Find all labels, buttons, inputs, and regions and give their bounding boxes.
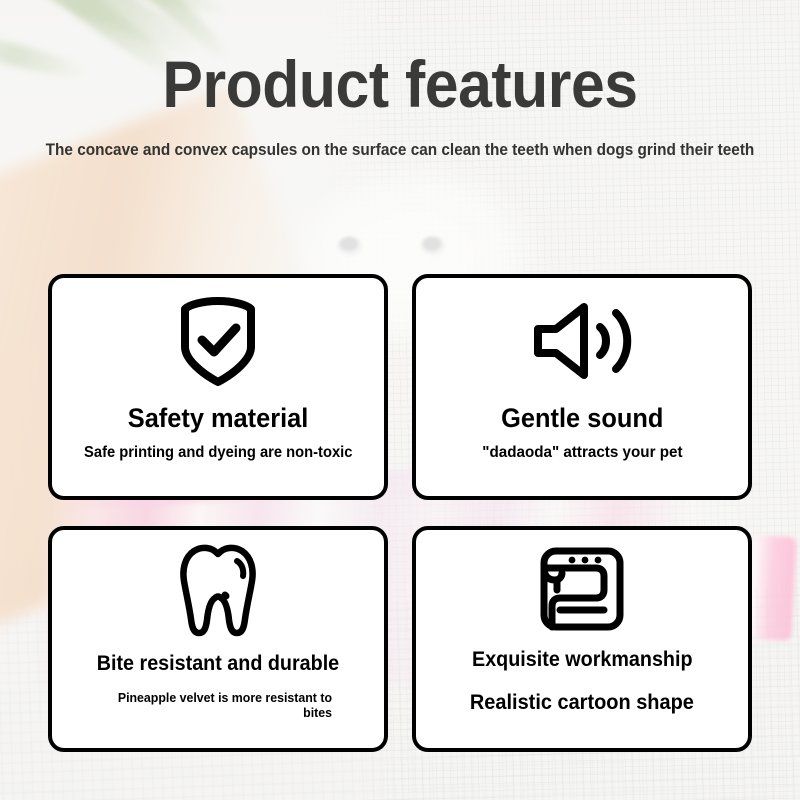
page-subtitle: The concave and convex capsules on the s… xyxy=(28,141,772,160)
feature-card-gentle-sound: Gentle sound "dadaoda" attracts your pet xyxy=(412,274,752,500)
feature-card-title: Exquisite workmanship xyxy=(472,648,692,671)
feature-card-title: Gentle sound xyxy=(501,404,663,434)
header: Product features The concave and convex … xyxy=(0,50,800,160)
sewing-machine-icon xyxy=(416,530,748,648)
speaker-sound-icon xyxy=(416,278,748,404)
tooth-icon xyxy=(52,530,384,652)
feature-card-subtitle: Pineapple velvet is more resistant to bi… xyxy=(104,691,332,721)
feature-card-subtitle: "dadaoda" attracts your pet xyxy=(482,444,682,462)
product-features-infographic: Product features The concave and convex … xyxy=(0,0,800,800)
shield-check-icon xyxy=(52,278,384,404)
feature-card-safety-material: Safety material Safe printing and dyeing… xyxy=(48,274,388,500)
feature-card-title: Bite resistant and durable xyxy=(97,652,339,675)
feature-card-subtitle: Safe printing and dyeing are non-toxic xyxy=(84,444,352,462)
feature-card-subtitle: Realistic cartoon shape xyxy=(470,691,694,715)
feature-card-workmanship: Exquisite workmanship Realistic cartoon … xyxy=(412,526,752,752)
feature-card-title: Safety material xyxy=(128,404,309,434)
page-title: Product features xyxy=(32,50,768,119)
feature-card-bite-resistant: Bite resistant and durable Pineapple vel… xyxy=(48,526,388,752)
feature-card-grid: Safety material Safe printing and dyeing… xyxy=(48,274,752,752)
